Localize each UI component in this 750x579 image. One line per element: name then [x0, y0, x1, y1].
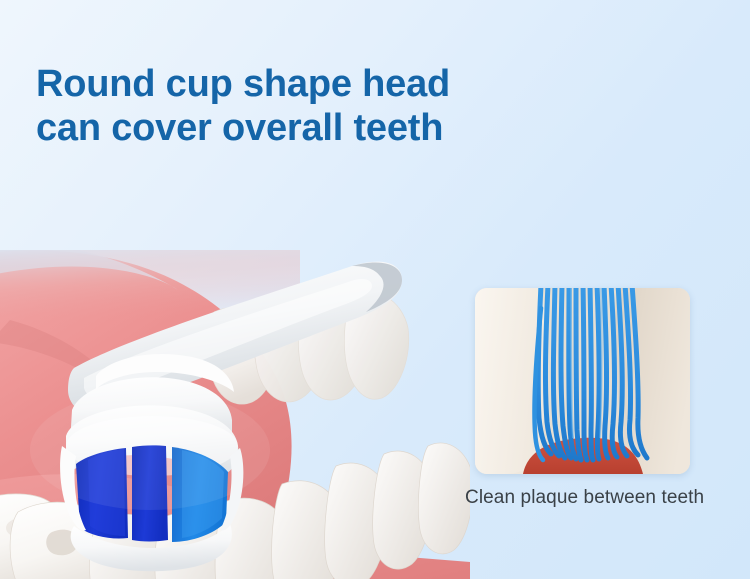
- inset-caption: Clean plaque between teeth: [465, 487, 725, 509]
- promo-banner: Round cup shape head can cover overall t…: [0, 0, 750, 579]
- page-title: Round cup shape head can cover overall t…: [36, 62, 450, 150]
- toothbrush-illustration: [0, 250, 470, 579]
- inset-closeup-image: [475, 288, 690, 474]
